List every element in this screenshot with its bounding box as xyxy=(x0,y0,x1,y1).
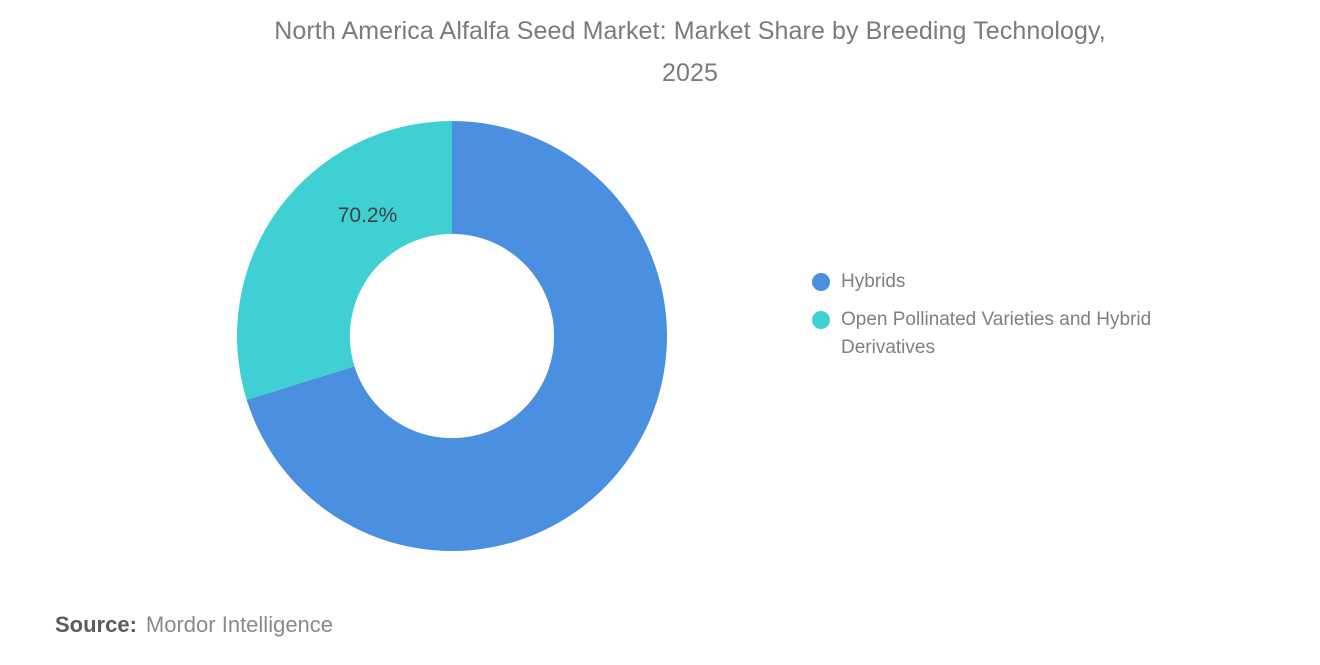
chart-legend: Hybrids Open Pollinated Varieties and Hy… xyxy=(812,268,1252,372)
legend-item-hybrids[interactable]: Hybrids xyxy=(812,268,1252,296)
donut-chart-plot-area: 70.2% xyxy=(0,0,800,665)
legend-item-open-pollinated-varieties[interactable]: Open Pollinated Varieties and Hybrid Der… xyxy=(812,306,1252,362)
source-label: Source: xyxy=(55,612,137,638)
donut-hole xyxy=(350,234,554,438)
legend-color-swatch-icon xyxy=(812,311,830,329)
donut-chart-svg xyxy=(237,121,667,551)
chart-footer: Source: Mordor Intelligence xyxy=(0,604,1320,665)
legend-item-label: Open Pollinated Varieties and Hybrid Der… xyxy=(841,306,1216,362)
legend-item-label: Hybrids xyxy=(841,268,905,296)
source-attribution: Source: Mordor Intelligence xyxy=(55,612,333,638)
chart-page: North America Alfalfa Seed Market: Marke… xyxy=(0,0,1320,665)
source-value: Mordor Intelligence xyxy=(146,612,333,638)
legend-color-swatch-icon xyxy=(812,273,830,291)
